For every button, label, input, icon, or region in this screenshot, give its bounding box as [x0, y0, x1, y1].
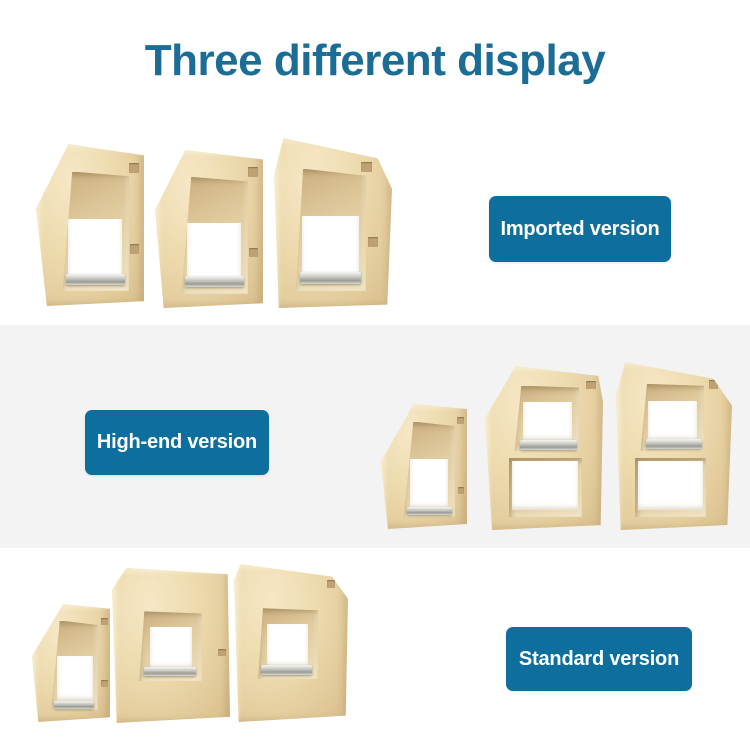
window-opening-icon	[187, 223, 241, 283]
product-part-standard-3	[234, 564, 348, 722]
window-opening-icon	[523, 402, 573, 441]
handle-strip-icon	[646, 439, 702, 449]
mounting-clip-icon	[101, 680, 107, 687]
window-opening-icon	[302, 216, 359, 279]
mounting-clip-icon	[368, 237, 377, 247]
handle-strip-icon	[66, 274, 124, 285]
product-part-standard-2	[112, 568, 230, 723]
window-opening-icon	[150, 627, 192, 669]
mounting-clip-icon	[248, 167, 258, 176]
badge-standard-version[interactable]: Standard version	[506, 627, 692, 691]
window-opening-icon	[57, 656, 93, 701]
window-opening-icon	[410, 459, 448, 509]
handle-strip-icon	[185, 276, 243, 287]
mounting-clip-icon	[101, 618, 108, 625]
page-title: Three different display	[0, 36, 750, 87]
window-opening-icon	[267, 624, 308, 667]
mounting-clip-icon	[458, 487, 465, 495]
mounting-clip-icon	[129, 163, 139, 173]
handle-strip-icon	[520, 440, 577, 450]
mounting-clip-icon	[457, 417, 465, 425]
handle-strip-icon	[300, 272, 361, 284]
mounting-clip-icon	[218, 649, 226, 657]
window-opening-icon	[512, 461, 578, 510]
mounting-clip-icon	[249, 248, 258, 257]
handle-strip-icon	[54, 701, 95, 709]
window-opening-icon	[648, 401, 697, 441]
handle-strip-icon	[144, 667, 196, 676]
mounting-clip-icon	[361, 162, 372, 172]
mounting-clip-icon	[130, 244, 139, 254]
product-part-high-end-2	[485, 366, 603, 530]
product-part-imported-3	[274, 138, 392, 308]
window-opening-icon	[638, 461, 703, 510]
mounting-clip-icon	[586, 381, 595, 389]
badge-imported-version[interactable]: Imported version	[489, 196, 671, 262]
badge-high-end-version[interactable]: High-end version	[85, 410, 269, 475]
handle-strip-icon	[407, 507, 452, 516]
window-opening-icon	[68, 219, 122, 281]
handle-strip-icon	[261, 665, 311, 674]
product-display-page: Three different display	[0, 0, 750, 750]
mounting-clip-icon	[327, 580, 335, 588]
product-part-high-end-3	[616, 362, 732, 530]
